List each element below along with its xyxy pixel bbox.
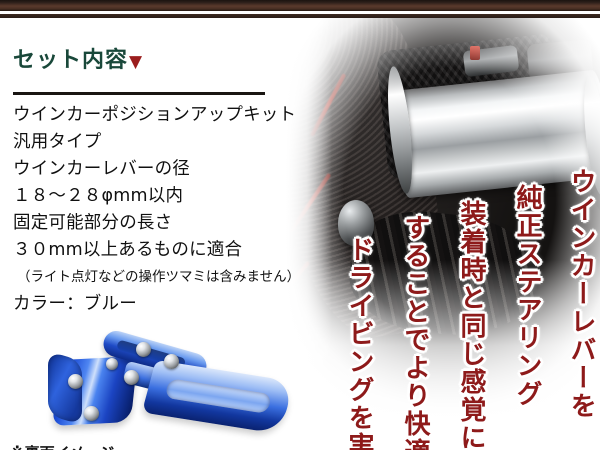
spec-line-note: （ライト点灯などの操作ツマミは含みません）: [13, 264, 291, 291]
section-heading-label: セット内容: [13, 48, 128, 73]
spec-line-color: カラー：ブルー: [13, 291, 291, 318]
banner-canvas: セット内容▼ ウインカーポジションアップキット 汎用タイプ ウインカーレバーの径…: [0, 0, 600, 450]
lever-groove: [164, 378, 272, 414]
spec-list: ウインカーポジションアップキット 汎用タイプ ウインカーレバーの径 １８〜２８φ…: [13, 102, 291, 318]
bolt-icon: [84, 406, 99, 421]
catchcopy-line-1: ウインカーレバーを: [568, 168, 594, 420]
product-image: [40, 336, 290, 436]
catchcopy-line-4: することでより快適な: [402, 214, 428, 450]
spec-line: ウインカーレバーの径: [13, 156, 291, 183]
lever-arm: [142, 360, 294, 434]
spec-column: セット内容▼ ウインカーポジションアップキット 汎用タイプ ウインカーレバーの径…: [0, 18, 290, 450]
bolt-icon: [164, 354, 179, 369]
catchcopy-line-3: 装着時と同じ感覚に: [458, 200, 484, 450]
spec-line: ３０mm以上あるものに適合: [13, 237, 291, 264]
chevron-down-icon: ▼: [129, 52, 143, 72]
catchcopy-line-2: 純正ステアリング: [514, 184, 540, 408]
bolt-icon: [124, 370, 139, 385]
bolt-icon: [68, 374, 83, 389]
product-caption: ※裏面イメージ: [10, 442, 114, 450]
spec-line: 汎用タイプ: [13, 129, 291, 156]
bolt-icon: [136, 342, 151, 357]
spec-line: １８〜２８φmm以内: [13, 183, 291, 210]
bolt-icon: [106, 358, 118, 370]
section-heading: セット内容▼: [13, 42, 143, 74]
spec-line: 固定可能部分の長さ: [13, 210, 291, 237]
spec-line: ウインカーポジションアップキット: [13, 102, 291, 129]
catchcopy-line-5: ドライビングを実現！: [346, 236, 372, 450]
heading-divider: [13, 92, 265, 95]
catchcopy-block: ウインカーレバーを 純正ステアリング 装着時と同じ感覚に することでより快適な …: [300, 0, 600, 450]
